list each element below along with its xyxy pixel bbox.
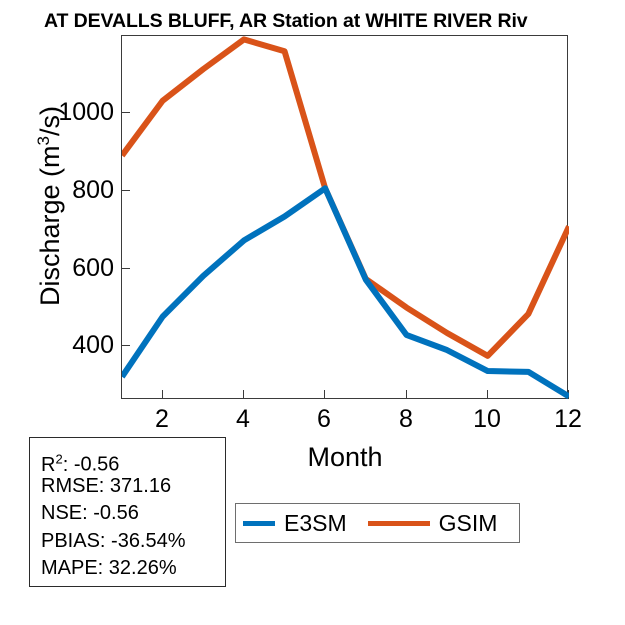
y-tick-label-800: 800 (2, 176, 114, 204)
x-tick-label-2: 2 (132, 404, 192, 434)
chart-legend[interactable]: E3SM GSIM (235, 503, 520, 543)
x-tick-label-6: 6 (294, 404, 354, 434)
legend-label-gsim: GSIM (439, 510, 498, 536)
stat-rmse: RMSE: 371.16 (41, 473, 225, 501)
legend-item-gsim[interactable]: GSIM (368, 504, 498, 542)
stat-mape: MAPE: 32.26% (41, 555, 225, 583)
legend-item-e3sm[interactable]: E3SM (243, 504, 347, 542)
x-tick-label-10: 10 (457, 404, 517, 434)
series-line-gsim (122, 39, 569, 355)
stat-nse: NSE: -0.56 (41, 500, 225, 528)
plot-area (121, 35, 568, 399)
statistics-box: R2: -0.56 RMSE: 371.16 NSE: -0.56 PBIAS:… (29, 437, 226, 587)
x-axis-label: Month (195, 442, 495, 473)
legend-swatch-gsim (368, 521, 430, 526)
plot-lines-svg (122, 36, 569, 400)
chart-figure: AT DEVALLS BLUFF, AR Station at WHITE RI… (0, 0, 625, 625)
series-line-e3sm (122, 188, 569, 396)
x-tick-label-12: 12 (538, 404, 598, 434)
stat-pbias: PBIAS: -36.54% (41, 528, 225, 556)
x-tick-label-4: 4 (213, 404, 273, 434)
legend-swatch-e3sm (243, 521, 275, 526)
stat-r2: R2: -0.56 (41, 445, 225, 473)
chart-title: AT DEVALLS BLUFF, AR Station at WHITE RI… (44, 9, 625, 33)
y-axis-label-exponent: 3 (34, 136, 53, 145)
x-tick-label-8: 8 (376, 404, 436, 434)
legend-label-e3sm: E3SM (284, 510, 347, 536)
y-tick-label-400: 400 (2, 331, 114, 359)
y-tick-label-600: 600 (2, 254, 114, 282)
y-tick-label-1000: 1000 (2, 98, 114, 126)
